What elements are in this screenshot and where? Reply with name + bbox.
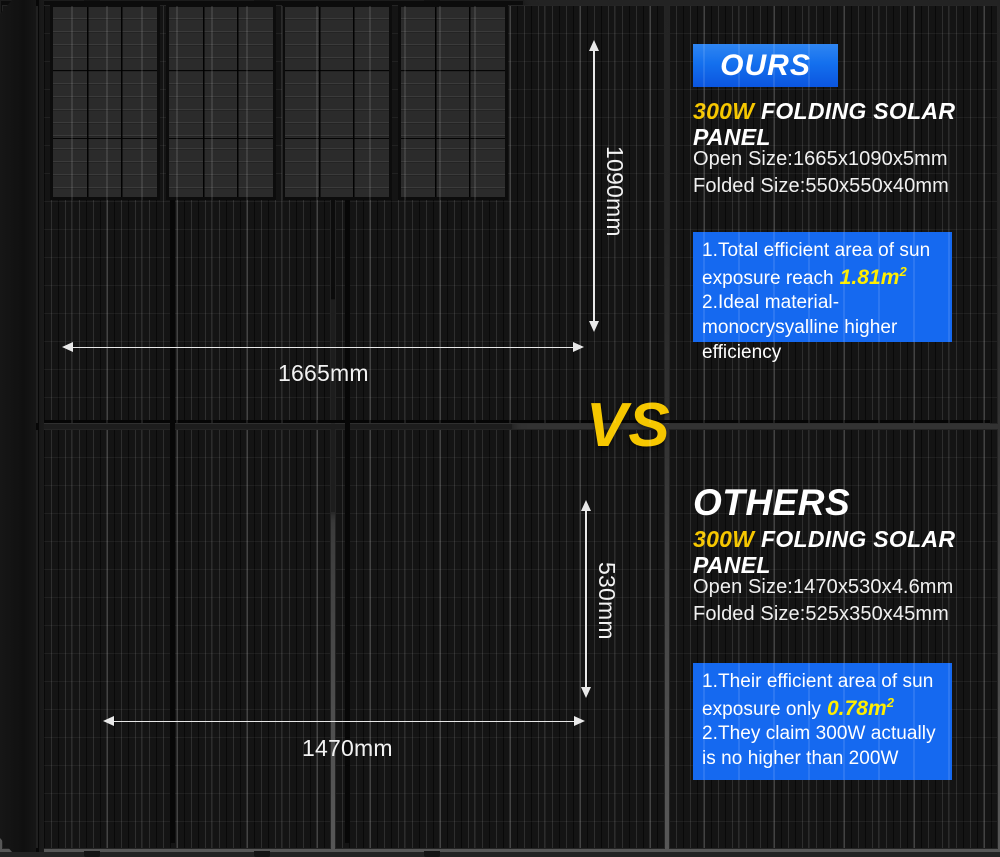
solar-cell-block: [335, 5, 664, 424]
solar-cell-block: [2, 429, 331, 848]
comparison-infographic: 1090mm 1665mm VS 530mm 1470mm OURS 300W …: [0, 0, 1000, 852]
panel-cell-row: [0, 429, 1000, 848]
solar-cell-block: [669, 429, 998, 848]
solar-cell-block: [335, 429, 664, 848]
solar-cell-block: [669, 5, 998, 424]
panel-tab: [424, 0, 440, 1]
ours-solar-panel-image: [0, 0, 524, 300]
panel-tab: [254, 0, 270, 1]
panel-cell-row: [0, 5, 1000, 424]
panel-tab: [84, 0, 100, 1]
solar-cell-block: [2, 5, 331, 424]
